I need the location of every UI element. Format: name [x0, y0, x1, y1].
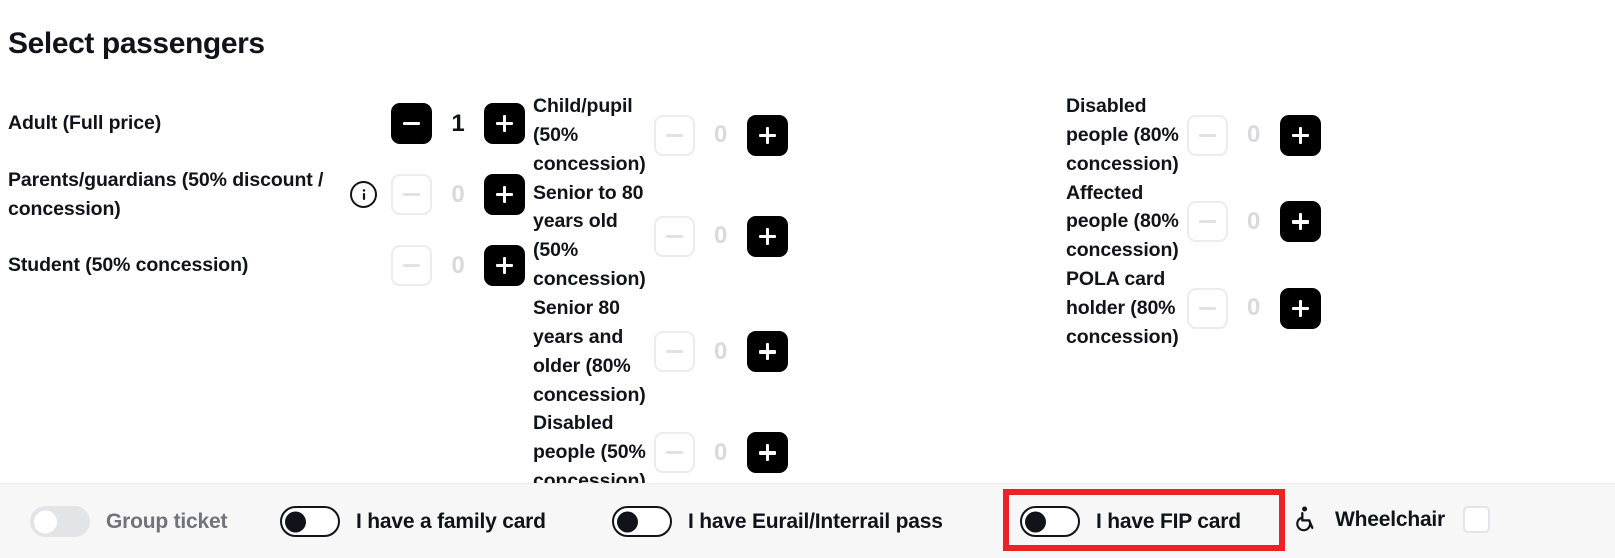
- decrement-button[interactable]: [1187, 288, 1228, 329]
- passenger-stepper: 0: [654, 432, 788, 473]
- plus-icon: [759, 343, 776, 360]
- minus-icon: [1199, 134, 1216, 137]
- plus-icon: [1292, 300, 1309, 317]
- wheelchair-icon: [1293, 504, 1319, 534]
- toggle-knob: [1025, 511, 1046, 532]
- options-bar: Group ticket I have a family card I have…: [0, 483, 1615, 558]
- passenger-stepper: 0: [1187, 115, 1321, 156]
- eurail-pass-label: I have Eurail/Interrail pass: [688, 511, 943, 532]
- passenger-type-label: POLA card holder (80% concession): [1066, 265, 1187, 352]
- plus-icon: [759, 127, 776, 144]
- passenger-column-3: Disabled people (80% concession) 0 Affec…: [9, 92, 1066, 352]
- increment-button[interactable]: [747, 432, 788, 473]
- option-eurail-pass[interactable]: I have Eurail/Interrail pass: [612, 506, 943, 537]
- plus-icon: [496, 115, 513, 132]
- page-title: Select passengers: [8, 26, 265, 62]
- passenger-type-label: Affected people (80% concession): [1066, 179, 1187, 266]
- group-ticket-label: Group ticket: [106, 511, 227, 532]
- option-fip-card[interactable]: I have FIP card: [1020, 506, 1241, 537]
- toggle-knob: [617, 511, 638, 532]
- toggle-knob: [34, 510, 57, 533]
- passenger-count-value: 0: [695, 441, 747, 465]
- passenger-stepper: 0: [1187, 201, 1321, 242]
- decrement-button[interactable]: [1187, 115, 1228, 156]
- group-ticket-toggle: [30, 506, 90, 537]
- plus-icon: [496, 257, 513, 274]
- increment-button[interactable]: [1280, 115, 1321, 156]
- option-wheelchair[interactable]: Wheelchair: [1293, 504, 1490, 534]
- plus-icon: [759, 444, 776, 461]
- wheelchair-checkbox[interactable]: [1463, 506, 1490, 533]
- increment-button[interactable]: [1280, 201, 1321, 242]
- minus-icon: [666, 451, 683, 454]
- eurail-pass-toggle[interactable]: [612, 506, 672, 537]
- minus-icon: [1199, 307, 1216, 310]
- decrement-button[interactable]: [654, 432, 695, 473]
- passenger-stepper: 0: [1187, 288, 1321, 329]
- plus-icon: [1292, 127, 1309, 144]
- wheelchair-label: Wheelchair: [1335, 509, 1445, 530]
- option-family-card[interactable]: I have a family card: [280, 506, 546, 537]
- family-card-label: I have a family card: [356, 511, 546, 532]
- passenger-selection-grid: Adult (Full price) 1 Parents/guardians (…: [0, 92, 1615, 482]
- toggle-knob: [285, 511, 306, 532]
- fip-card-toggle[interactable]: [1020, 506, 1080, 537]
- increment-button[interactable]: [1280, 288, 1321, 329]
- option-group-ticket[interactable]: Group ticket: [30, 506, 227, 537]
- decrement-button[interactable]: [1187, 201, 1228, 242]
- passenger-count-value: 0: [1228, 296, 1280, 320]
- passenger-count-value: 0: [1228, 123, 1280, 147]
- plus-icon: [1292, 213, 1309, 230]
- passenger-count-value: 0: [1228, 210, 1280, 234]
- family-card-toggle[interactable]: [280, 506, 340, 537]
- plus-icon: [759, 228, 776, 245]
- passenger-type-label: Disabled people (80% concession): [1066, 92, 1187, 179]
- minus-icon: [1199, 220, 1216, 223]
- fip-card-label: I have FIP card: [1096, 511, 1241, 532]
- plus-icon: [496, 186, 513, 203]
